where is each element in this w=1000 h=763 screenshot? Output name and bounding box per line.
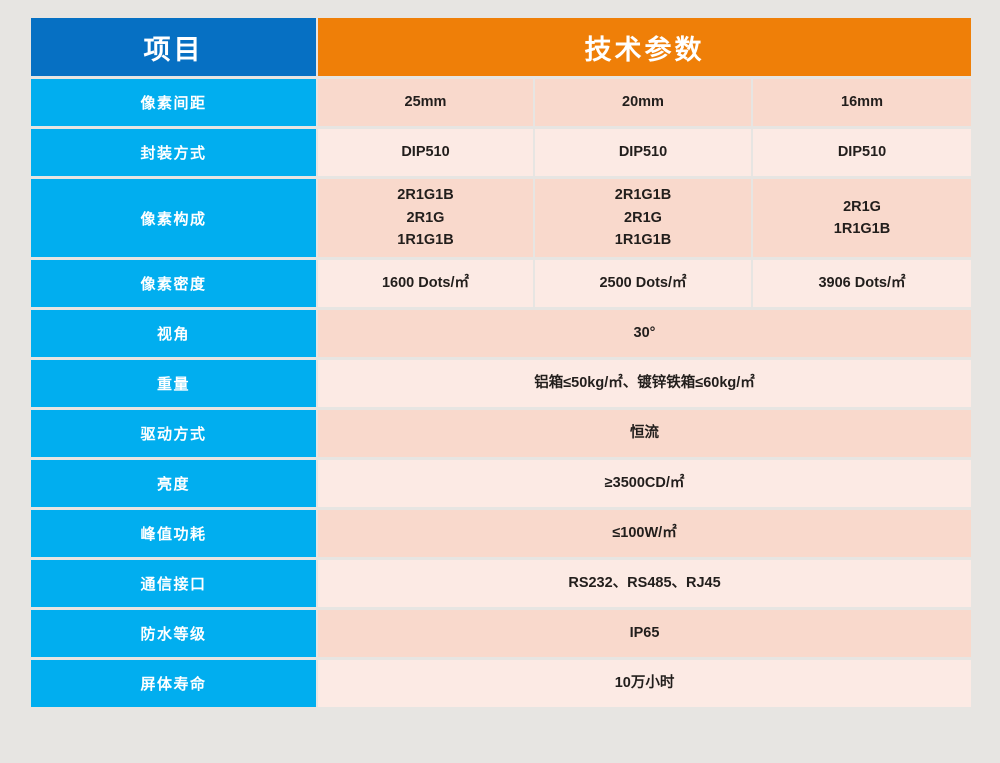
value-cell: 25mm (318, 79, 533, 126)
row-label: 像素间距 (31, 79, 316, 126)
value-cell-merged: IP65 (318, 610, 971, 657)
row-label: 通信接口 (31, 560, 316, 607)
row-label: 亮度 (31, 460, 316, 507)
value-line: 1R1G1B (535, 229, 751, 251)
value-line: 2R1G (753, 196, 971, 218)
table-row: 峰值功耗≤100W/㎡ (31, 510, 971, 557)
row-label: 峰值功耗 (31, 510, 316, 557)
header-row: 项目 技术参数 (31, 18, 971, 76)
header-parameter-cell: 技术参数 (318, 18, 971, 76)
row-label: 重量 (31, 360, 316, 407)
table-row: 像素间距25mm20mm16mm (31, 79, 971, 126)
table-row: 亮度≥3500CD/㎡ (31, 460, 971, 507)
value-cell-merged: 10万小时 (318, 660, 971, 707)
value-cell: 3906 Dots/㎡ (753, 260, 971, 307)
row-label: 屏体寿命 (31, 660, 316, 707)
row-label: 像素密度 (31, 260, 316, 307)
value-cell: DIP510 (753, 129, 971, 176)
value-cell-merged: RS232、RS485、RJ45 (318, 560, 971, 607)
row-label: 视角 (31, 310, 316, 357)
value-cell: 20mm (535, 79, 751, 126)
table-body: 像素间距25mm20mm16mm封装方式DIP510DIP510DIP510像素… (31, 79, 971, 707)
row-label: 防水等级 (31, 610, 316, 657)
row-label: 驱动方式 (31, 410, 316, 457)
value-line: 2R1G (318, 207, 533, 229)
row-label: 像素构成 (31, 179, 316, 257)
value-line: 1R1G1B (318, 229, 533, 251)
row-label: 封装方式 (31, 129, 316, 176)
value-cell: 16mm (753, 79, 971, 126)
value-line: 2R1G (535, 207, 751, 229)
table-row: 防水等级IP65 (31, 610, 971, 657)
value-cell-merged: 30° (318, 310, 971, 357)
value-cell-merged: ≤100W/㎡ (318, 510, 971, 557)
table-row: 重量铝箱≤50kg/㎡、镀锌铁箱≤60kg/㎡ (31, 360, 971, 407)
value-line: 2R1G1B (535, 184, 751, 206)
table-row: 屏体寿命10万小时 (31, 660, 971, 707)
table-row: 像素构成2R1G1B2R1G1R1G1B2R1G1B2R1G1R1G1B2R1G… (31, 179, 971, 257)
value-cell: 2R1G1B2R1G1R1G1B (535, 179, 751, 257)
table-row: 视角30° (31, 310, 971, 357)
value-cell: DIP510 (535, 129, 751, 176)
value-cell-merged: 铝箱≤50kg/㎡、镀锌铁箱≤60kg/㎡ (318, 360, 971, 407)
value-cell: 2500 Dots/㎡ (535, 260, 751, 307)
value-cell: 2R1G1B2R1G1R1G1B (318, 179, 533, 257)
value-cell: DIP510 (318, 129, 533, 176)
table-row: 通信接口RS232、RS485、RJ45 (31, 560, 971, 607)
value-cell: 1600 Dots/㎡ (318, 260, 533, 307)
table-row: 封装方式DIP510DIP510DIP510 (31, 129, 971, 176)
table-row: 像素密度1600 Dots/㎡2500 Dots/㎡3906 Dots/㎡ (31, 260, 971, 307)
header-item-cell: 项目 (31, 18, 316, 76)
value-line: 2R1G1B (318, 184, 533, 206)
value-cell-merged: ≥3500CD/㎡ (318, 460, 971, 507)
value-line: 1R1G1B (753, 218, 971, 240)
table-header: 项目 技术参数 (31, 18, 971, 76)
value-cell-merged: 恒流 (318, 410, 971, 457)
specification-table: 项目 技术参数 像素间距25mm20mm16mm封装方式DIP510DIP510… (29, 15, 973, 710)
value-cell: 2R1G1R1G1B (753, 179, 971, 257)
table-row: 驱动方式恒流 (31, 410, 971, 457)
